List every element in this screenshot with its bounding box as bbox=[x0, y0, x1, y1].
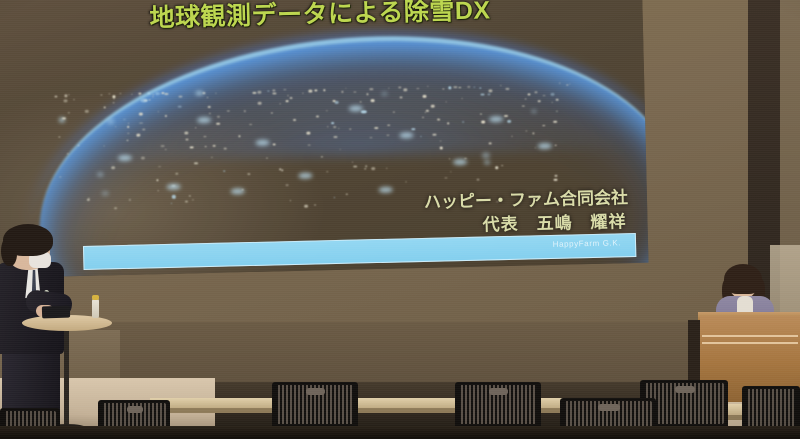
chair-handle-slot bbox=[306, 388, 325, 395]
chair-handle-slot bbox=[598, 404, 619, 411]
slide-footer-text: HappyFarm G.K. bbox=[553, 238, 622, 249]
presenter-hair-side bbox=[1, 236, 17, 266]
podium-trim-lower bbox=[702, 342, 798, 344]
chair-back-slats bbox=[746, 389, 796, 426]
audience-chair bbox=[455, 382, 541, 428]
chair-handle-slot bbox=[675, 386, 694, 393]
podium-trim-upper bbox=[702, 335, 798, 337]
water-bottle bbox=[92, 298, 99, 318]
laptop bbox=[42, 306, 70, 319]
bottle-cap bbox=[92, 295, 99, 300]
standing-table-stem bbox=[64, 328, 69, 428]
foreground-shadow bbox=[0, 426, 800, 439]
podium-person-hair bbox=[724, 264, 762, 294]
slide-representative: 代表 五嶋 耀祥 bbox=[482, 207, 627, 235]
chair-handle-slot bbox=[127, 406, 143, 413]
audience-chair bbox=[742, 386, 800, 430]
chair-handle-slot bbox=[489, 388, 508, 395]
conference-room-photo: 地球観測データによる除雪DX ハッピー・ファム合同会社 代表 五嶋 耀祥 Hap… bbox=[0, 0, 800, 439]
audience-chair bbox=[272, 382, 358, 428]
projection-screen: 地球観測データによる除雪DX ハッピー・ファム合同会社 代表 五嶋 耀祥 Hap… bbox=[0, 0, 649, 278]
